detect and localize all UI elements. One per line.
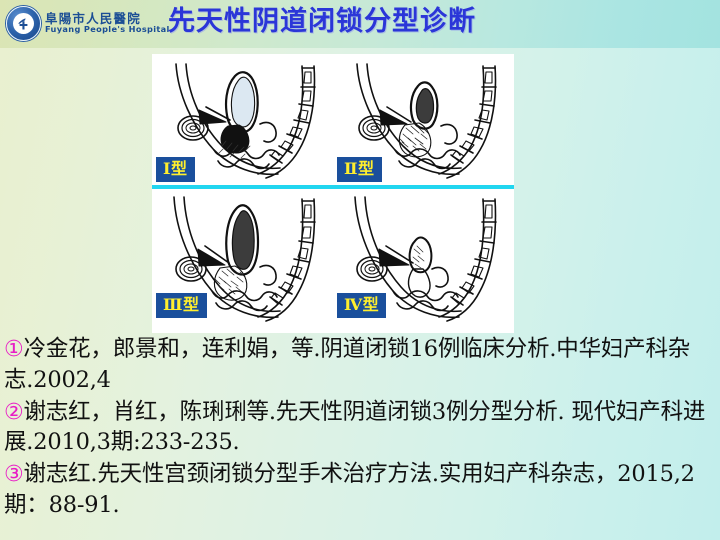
type-label-3-suffix: 型 xyxy=(183,295,200,314)
type-label-2-roman: Ⅱ xyxy=(344,159,358,178)
figure-cell-type-1: Ⅰ型 xyxy=(152,54,333,185)
cross-icon xyxy=(7,7,40,40)
figure-cell-type-3: Ⅲ型 xyxy=(152,189,333,333)
type-label-1: Ⅰ型 xyxy=(156,157,195,182)
hospital-logo: 阜陽市人民醫院 Fuyang People's Hospital xyxy=(6,3,146,43)
reference-item-2: ②谢志红，肖红，陈琍琍等.先天性阴道闭锁3例分型分析. 现代妇产科进展.2010… xyxy=(4,397,718,459)
type-label-3-roman: Ⅲ xyxy=(163,295,183,314)
type-label-3: Ⅲ型 xyxy=(156,293,207,318)
hospital-name-en: Fuyang People's Hospital xyxy=(45,25,170,34)
reference-marker-1: ① xyxy=(4,337,24,362)
type-label-1-roman: Ⅰ xyxy=(163,159,171,178)
figure-panel: Ⅰ型 xyxy=(152,54,514,333)
type-label-2-suffix: 型 xyxy=(358,159,375,178)
reference-text-1: 冷金花，郎景和，连利娟，等.阴道闭锁16例临床分析.中华妇产科杂志.2002,4 xyxy=(4,336,690,393)
reference-marker-2: ② xyxy=(4,400,24,425)
reference-list: ①冷金花，郎景和，连利娟，等.阴道闭锁16例临床分析.中华妇产科杂志.2002,… xyxy=(4,334,718,522)
page-title: 先天性阴道闭锁分型诊断 xyxy=(168,4,588,40)
type-label-2: Ⅱ型 xyxy=(337,157,382,182)
reference-marker-3: ③ xyxy=(4,462,24,487)
type-label-1-suffix: 型 xyxy=(171,159,188,178)
type-label-4: Ⅳ型 xyxy=(337,293,386,318)
type-label-4-roman: Ⅳ xyxy=(344,295,363,314)
slide-canvas: 阜陽市人民醫院 Fuyang People's Hospital 先天性阴道闭锁… xyxy=(0,0,720,540)
hospital-emblem-icon xyxy=(6,6,41,41)
type-label-4-suffix: 型 xyxy=(363,295,380,314)
figure-cell-type-4: Ⅳ型 xyxy=(333,189,514,333)
reference-text-3: 谢志红.先天性宫颈闭锁分型手术治疗方法.实用妇产科杂志，2015,2期：88-9… xyxy=(4,461,695,518)
reference-text-2: 谢志红，肖红，陈琍琍等.先天性阴道闭锁3例分型分析. 现代妇产科进展.2010,… xyxy=(4,399,705,456)
reference-item-1: ①冷金花，郎景和，连利娟，等.阴道闭锁16例临床分析.中华妇产科杂志.2002,… xyxy=(4,334,718,396)
figure-cell-type-2: Ⅱ型 xyxy=(333,54,514,185)
hospital-name-block: 阜陽市人民醫院 Fuyang People's Hospital xyxy=(45,12,170,34)
reference-item-3: ③谢志红.先天性宫颈闭锁分型手术治疗方法.实用妇产科杂志，2015,2期：88-… xyxy=(4,459,718,521)
